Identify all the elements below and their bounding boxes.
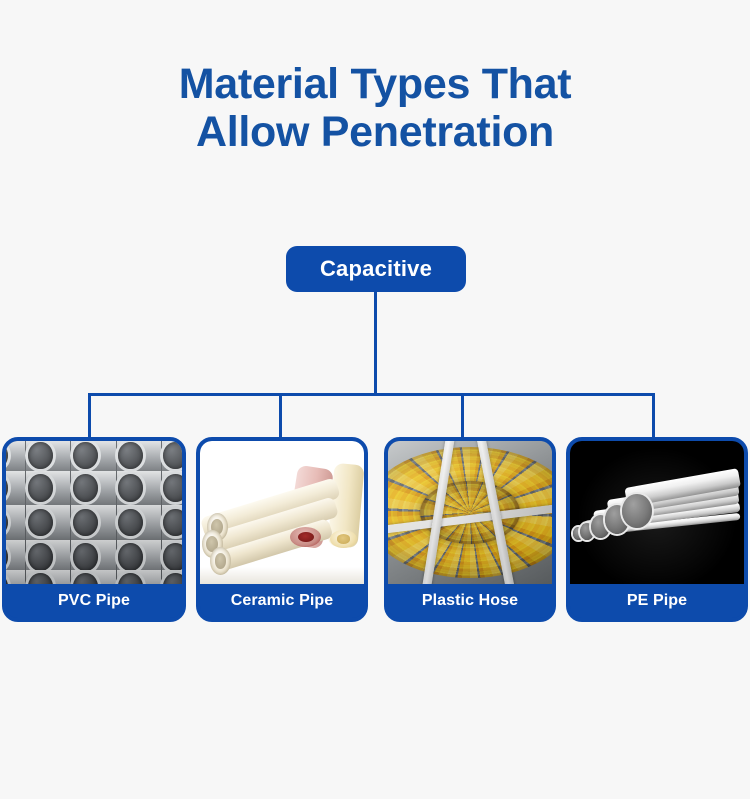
ceramic-pipes-image bbox=[200, 441, 364, 584]
page-title: Material Types That Allow Penetration bbox=[0, 60, 750, 156]
card-label-bar: Ceramic Pipe bbox=[200, 584, 364, 618]
connector-drop-4 bbox=[652, 393, 655, 439]
card-label-text: PVC Pipe bbox=[58, 592, 130, 610]
card-plastic-hose[interactable]: Plastic Hose bbox=[384, 437, 556, 622]
card-label-text: Ceramic Pipe bbox=[231, 592, 334, 610]
card-row: PVC Pipe bbox=[0, 437, 750, 622]
pe-pipes-image bbox=[570, 441, 744, 584]
root-node-capacitive[interactable]: Capacitive bbox=[286, 246, 466, 292]
card-label-bar: Plastic Hose bbox=[388, 584, 552, 618]
card-label-bar: PE Pipe bbox=[570, 584, 744, 618]
card-label-text: PE Pipe bbox=[627, 592, 687, 610]
root-node-label: Capacitive bbox=[320, 256, 432, 282]
card-label-bar: PVC Pipe bbox=[6, 584, 182, 618]
card-pe-pipe[interactable]: PE Pipe bbox=[566, 437, 748, 622]
connector-drop-1 bbox=[88, 393, 91, 439]
card-pvc-pipe[interactable]: PVC Pipe bbox=[2, 437, 186, 622]
connector-drop-3 bbox=[461, 393, 464, 439]
card-label-text: Plastic Hose bbox=[422, 592, 518, 610]
card-ceramic-pipe[interactable]: Ceramic Pipe bbox=[196, 437, 368, 622]
pvc-pipes-image bbox=[6, 441, 182, 584]
connector-drop-2 bbox=[279, 393, 282, 439]
infographic-diagram: Material Types That Allow Penetration Ca… bbox=[0, 0, 750, 799]
connector-stem bbox=[374, 292, 377, 394]
connector-horizontal-bar bbox=[88, 393, 655, 396]
plastic-hose-image bbox=[388, 441, 552, 584]
page-title-line-2: Allow Penetration bbox=[0, 108, 750, 156]
page-title-line-1: Material Types That bbox=[0, 60, 750, 108]
